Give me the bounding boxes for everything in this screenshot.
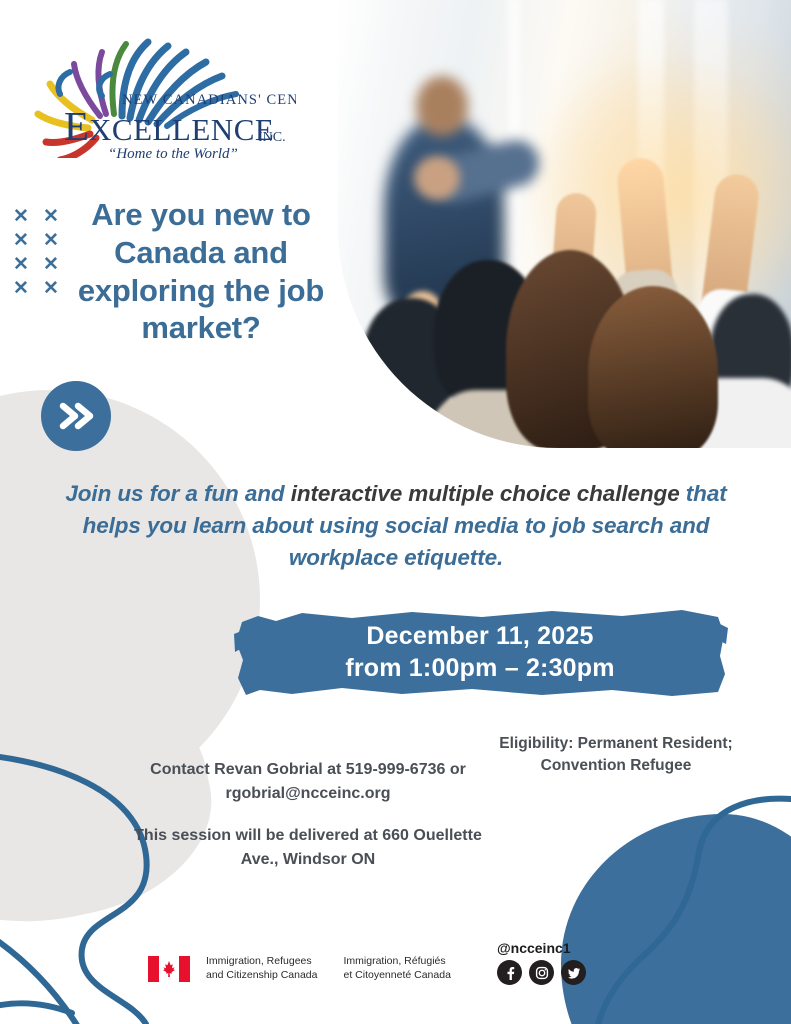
ircc-english-l1: Immigration, Refugees	[206, 955, 312, 967]
description-part1: Join us for a fun and	[65, 481, 290, 506]
gray-circle-blob	[0, 390, 260, 810]
logo-line1: NEW CANADIANS' CENTRE OF	[122, 92, 296, 108]
facebook-icon[interactable]	[497, 960, 522, 985]
logo-tagline: “Home to the World”	[108, 146, 238, 158]
x-mark-icon: ✕	[6, 205, 36, 229]
description-emphasis: interactive multiple choice challenge	[291, 481, 680, 506]
social-handle: @ncceinc1	[497, 940, 586, 956]
ircc-english: Immigration, Refugees and Citizenship Ca…	[206, 955, 318, 983]
contact-line: Contact Revan Gobrial at 519-999-6736 or…	[128, 758, 488, 806]
audience-raising-hands-photo	[338, 0, 791, 448]
ircc-french-l2: et Citoyenneté Canada	[344, 969, 451, 981]
blue-blob	[561, 814, 791, 1024]
x-mark-icon: ✕	[6, 229, 36, 253]
x-mark-icon: ✕	[6, 253, 36, 277]
eligibility-line2: Convention Refugee	[466, 755, 766, 777]
eligibility-line1: Eligibility: Permanent Resident;	[466, 733, 766, 755]
social-block: @ncceinc1	[497, 940, 586, 985]
ircc-english-l2: and Citizenship Canada	[206, 969, 318, 981]
eligibility-text: Eligibility: Permanent Resident; Convent…	[466, 733, 766, 778]
x-mark-icon: ✕	[6, 277, 36, 301]
ircc-french-l1: Immigration, Réfugiés	[344, 955, 446, 967]
banner-time: from 1:00pm – 2:30pm	[345, 652, 614, 684]
description-text: Join us for a fun and interactive multip…	[34, 478, 758, 574]
organization-logo: NEW CANADIANS' CENTRE OF E XCELLENCE INC…	[26, 28, 296, 158]
page-title: Are you new to Canada and exploring the …	[56, 196, 346, 347]
canada-flag-icon	[148, 956, 190, 982]
ircc-french: Immigration, Réfugiés et Citoyenneté Can…	[344, 955, 451, 983]
blue-curve-line-right	[571, 760, 791, 1024]
location-line: This session will be delivered at 660 Ou…	[128, 824, 488, 872]
contact-block: Contact Revan Gobrial at 519-999-6736 or…	[128, 758, 488, 872]
ircc-wordmark: Immigration, Refugees and Citizenship Ca…	[148, 955, 451, 983]
logo-line2: E	[64, 103, 89, 149]
date-time-banner: December 11, 2025 from 1:00pm – 2:30pm	[232, 604, 728, 700]
logo-suffix: INC.	[258, 130, 286, 145]
banner-date: December 11, 2025	[366, 620, 593, 652]
twitter-icon[interactable]	[561, 960, 586, 985]
poster: NEW CANADIANS' CENTRE OF E XCELLENCE INC…	[0, 0, 791, 1024]
logo-line2b: XCELLENCE	[89, 112, 274, 147]
double-chevron-right-icon	[41, 381, 111, 451]
instagram-icon[interactable]	[529, 960, 554, 985]
